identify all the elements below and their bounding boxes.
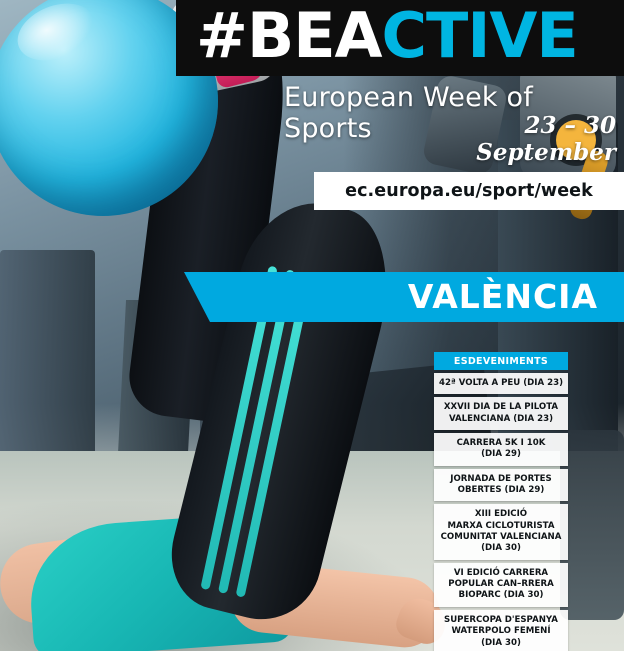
website-url-bar[interactable]: ec.europa.eu/sport/week bbox=[314, 172, 624, 210]
list-item: JORNADA DE PORTES OBERTES (DIA 29) bbox=[434, 469, 568, 502]
list-item: XXVII DIA DE LA PILOTA VALENCIANA (DIA 2… bbox=[434, 397, 568, 430]
event-line: POPULAR CAN–RRERA bbox=[438, 579, 564, 590]
event-line: XXVII DIA DE LA PILOTA bbox=[438, 402, 564, 413]
event-line: COMUNITAT VALENCIANA bbox=[438, 532, 564, 543]
beactive-logo-white-part: #BEA bbox=[196, 0, 382, 72]
event-line: 42ª VOLTA A PEU (DIA 23) bbox=[438, 378, 564, 389]
event-line: XIII EDICIÓ bbox=[438, 509, 564, 520]
list-item: 42ª VOLTA A PEU (DIA 23) bbox=[434, 373, 568, 394]
list-item: VI EDICIÓ CARRERA POPULAR CAN–RRERA BIOP… bbox=[434, 563, 568, 607]
event-line: (DIA 30) bbox=[438, 638, 564, 649]
event-line: JORNADA DE PORTES bbox=[438, 474, 564, 485]
event-line: MARXA CICLOTURISTA bbox=[438, 521, 564, 532]
event-line: WATERPOLO FEMENÍ bbox=[438, 626, 564, 637]
gym-equipment-silhouette bbox=[560, 430, 624, 620]
beactive-logo: #BEACTIVE bbox=[196, 0, 578, 74]
event-line: BIOPARC (DIA 30) bbox=[438, 590, 564, 601]
beactive-logo-cyan-part: CTIVE bbox=[382, 0, 578, 72]
event-line: CARRERA 5K I 10K bbox=[438, 438, 564, 449]
event-line: VI EDICIÓ CARRERA bbox=[438, 568, 564, 579]
city-ribbon: VALÈNCIA bbox=[210, 272, 624, 322]
list-item: CARRERA 5K I 10K (DIA 29) bbox=[434, 433, 568, 466]
list-item: XIII EDICIÓ MARXA CICLOTURISTA COMUNITAT… bbox=[434, 504, 568, 559]
events-list: ESDEVENIMENTS 42ª VOLTA A PEU (DIA 23) X… bbox=[434, 352, 568, 651]
event-line: (DIA 29) bbox=[438, 449, 564, 460]
event-line: OBERTES (DIA 29) bbox=[438, 485, 564, 496]
list-item: SUPERCOPA D'ESPANYA WATERPOLO FEMENÍ (DI… bbox=[434, 610, 568, 651]
campaign-dates: 23 – 30 September bbox=[380, 112, 616, 166]
city-name: VALÈNCIA bbox=[408, 272, 598, 322]
poster: #BEACTIVE European Week of Sports 23 – 3… bbox=[0, 0, 624, 651]
events-list-header: ESDEVENIMENTS bbox=[434, 352, 568, 370]
event-line: SUPERCOPA D'ESPANYA bbox=[438, 615, 564, 626]
website-url-text: ec.europa.eu/sport/week bbox=[345, 181, 593, 201]
event-line: VALENCIANA (DIA 23) bbox=[438, 414, 564, 425]
event-line: (DIA 30) bbox=[438, 543, 564, 554]
